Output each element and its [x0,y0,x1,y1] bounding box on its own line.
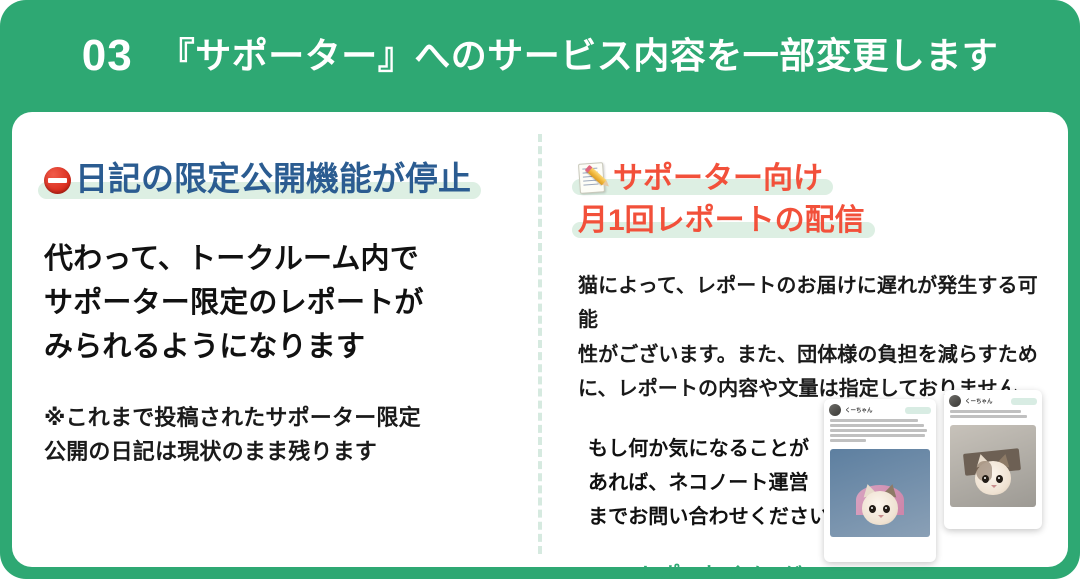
column-divider [538,134,542,554]
left-note-line-2: 公開の日記は現状のまま残ります [44,435,524,469]
card-badge [1011,398,1037,405]
report-preview-card: くーちゃん [944,390,1042,529]
page-title: 『サポーター』へのサービス内容を一部変更します [159,38,999,74]
right-panel-heading: サポーター向け 月1回レポートの配信 [578,160,1048,241]
slide-header: 03 『サポーター』へのサービス内容を一部変更します [0,0,1080,112]
avatar [949,395,961,407]
right-body-line-1: 猫によって、レポートのお届けに遅れが発生する可能 [578,269,1048,338]
card-text-lines [944,409,1042,423]
cat-illustration [853,477,907,535]
right-panel-body: 猫によって、レポートのお届けに遅れが発生する可能 性がございます。また、団体様の… [578,269,1048,407]
slide-root: 03 『サポーター』へのサービス内容を一部変更します 日記の限定公開機能が停止 … [0,0,1080,579]
left-body-line-2: サポーター限定のレポートが [44,281,524,325]
section-number: 03 [82,34,133,78]
left-panel-note: ※これまで投稿されたサポーター限定 公開の日記は現状のまま残ります [44,401,524,469]
card-header: くーちゃん [824,399,936,418]
left-body-line-3: みられるようになります [44,325,524,369]
right-body-line-2: 性がございます。また、団体様の負担を減らすため [578,338,1048,372]
left-panel: 日記の限定公開機能が停止 代わって、トークルーム内で サポーター限定のレポートが… [44,160,524,469]
avatar [829,404,841,416]
right-heading-line-1: サポーター向け [613,162,823,195]
card-photo [950,425,1036,507]
left-panel-body: 代わって、トークルーム内で サポーター限定のレポートが みられるようになります [44,237,524,369]
report-preview-card: くーちゃん [824,399,936,562]
left-body-line-1: 代わって、トークルーム内で [44,237,524,281]
left-note-line-1: ※これまで投稿されたサポーター限定 [44,401,524,435]
report-image-previews: くーちゃん くーちゃん [818,388,1063,563]
card-username: くーちゃん [845,406,873,414]
card-photo [830,449,930,537]
left-heading-text: 日記の限定公開機能が停止 [75,160,471,197]
memo-icon [578,163,606,193]
card-header: くーちゃん [944,390,1042,409]
report-caption-text: レポートイメージ [640,564,804,579]
card-text-lines [824,418,936,447]
play-arrow-icon: ▶ [805,561,822,579]
card-badge [905,407,931,414]
card-username: くーちゃん [965,397,993,405]
no-entry-icon [44,167,71,194]
right-heading-line-2: 月1回レポートの配信 [578,204,865,237]
cat-illustration [966,447,1020,505]
left-panel-heading: 日記の限定公開機能が停止 [44,160,524,199]
